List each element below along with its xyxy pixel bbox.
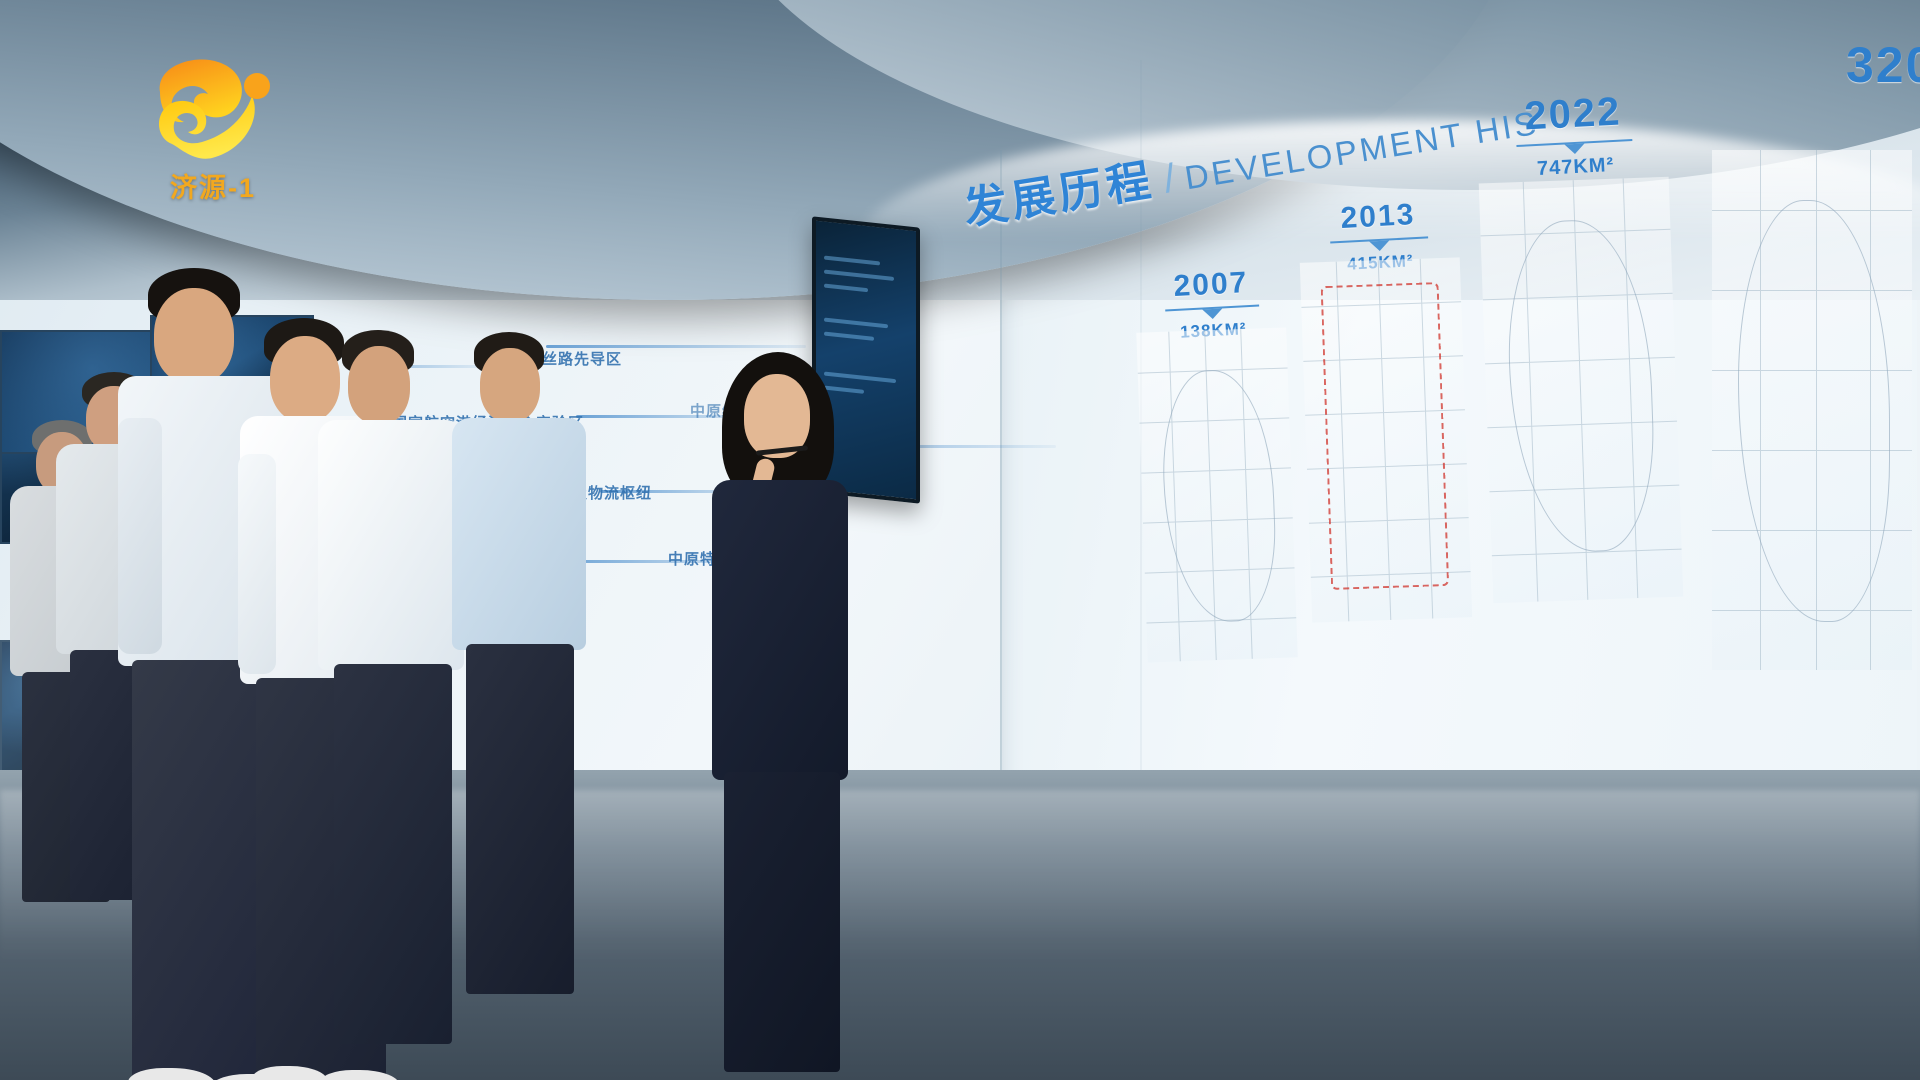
timeline-year: 2013 — [1314, 197, 1442, 238]
map-panel-2007 — [1136, 327, 1297, 662]
timeline-node-2022: 2022 747KM² — [1498, 88, 1650, 183]
timeline-year: 2007 — [1150, 265, 1272, 305]
lower-third-graphics: 示范区党政考察团到航空港区考察对接 发挥体制优势实现功能互补加快推进区域协作发展… — [0, 736, 1920, 1006]
timeline-node-320: 320 — [1846, 36, 1920, 94]
map-panel-2022 — [1479, 177, 1684, 603]
broadcast-frame: 空中丝路先导区 国家航空港经济综合实验区 中原经济区核心增长极 世界级物流枢纽 … — [0, 0, 1920, 1080]
timeline-year: 320 — [1846, 36, 1920, 94]
section-title-separator: / — [1161, 156, 1179, 202]
map-panel-2013 — [1300, 257, 1472, 622]
timeline-year: 2022 — [1498, 88, 1648, 141]
diagram-label-5: 中原特 — [668, 548, 716, 569]
map-panel-320 — [1712, 150, 1912, 670]
